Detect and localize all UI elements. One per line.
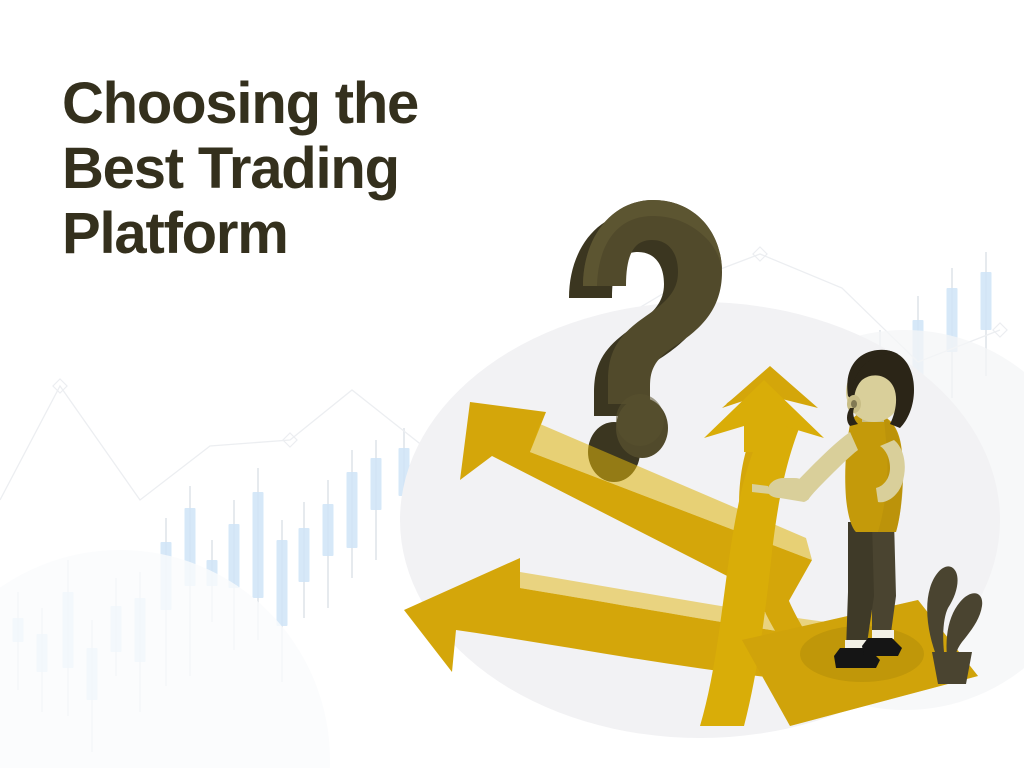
page-title: Choosing the Best Trading Platform: [62, 72, 532, 267]
page-title-line-3: Platform: [62, 202, 532, 267]
page-title-line-2: Best Trading: [62, 137, 532, 202]
page-title-line-1: Choosing the: [62, 72, 532, 137]
hero-banner: Choosing the Best Trading Platform: [0, 0, 1024, 768]
